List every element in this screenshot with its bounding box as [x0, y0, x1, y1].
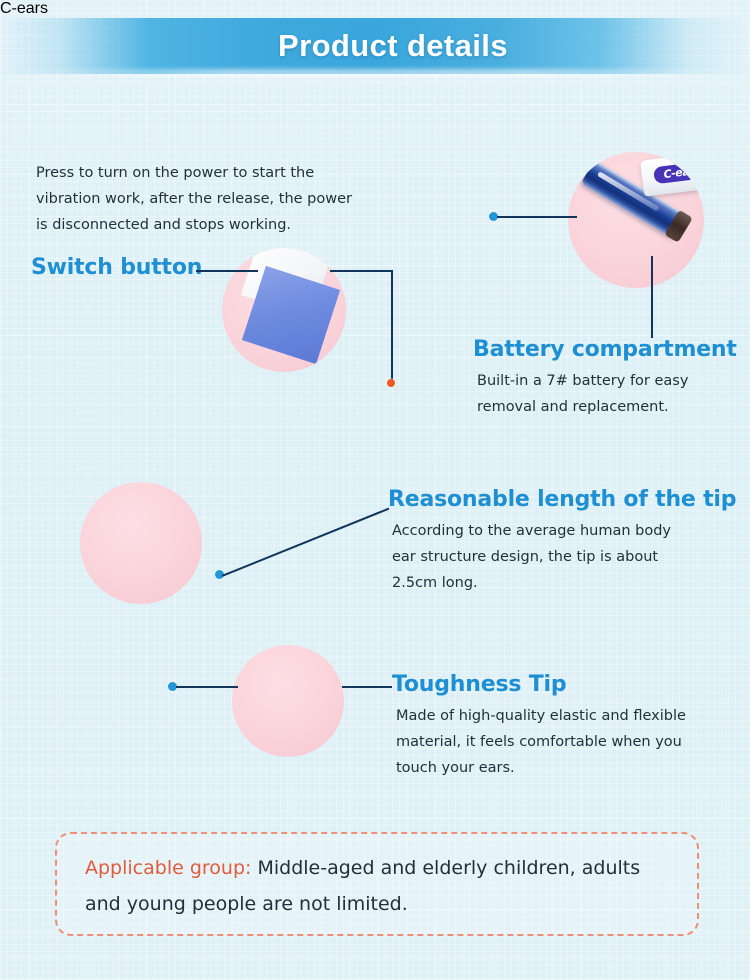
battery-inset-photo: C-ears	[568, 152, 704, 288]
battery-leader-line-v	[651, 256, 653, 338]
applicable-group-box: Applicable group: Middle-aged and elderl…	[55, 832, 699, 936]
page-title: Product details	[0, 18, 750, 74]
battery-cap: C-ears	[640, 152, 704, 197]
toughness-tip-body: Made of high-quality elastic and flexibl…	[396, 703, 726, 781]
product-details-page: Product details C-ears Press to turn on …	[0, 0, 750, 980]
battery-compartment-body: Built-in a 7# battery for easy removal a…	[477, 368, 747, 420]
battery-compartment-heading: Battery compartment	[473, 337, 737, 362]
switch-button-inset-photo	[222, 248, 346, 372]
tip-length-heading: Reasonable length of the tip	[388, 487, 736, 512]
header-banner: Product details	[0, 18, 750, 74]
applicable-group-label: Applicable group:	[85, 857, 251, 879]
battery-leader-line-h	[497, 216, 577, 218]
device-brand-badge: C-ears	[0, 0, 750, 18]
nozzle-inset-photo	[80, 482, 202, 604]
tip-length-body: According to the average human body ear …	[392, 518, 712, 596]
applicable-group-line2: and young people are not limited.	[85, 886, 680, 922]
product-photo: C-ears	[0, 0, 750, 18]
device-brand-label: C-ears	[0, 0, 48, 17]
switch-marker-dot	[387, 379, 395, 387]
battery-cap-brand-label: C-ears	[653, 161, 704, 185]
switch-leader-line-h1	[196, 270, 258, 272]
switch-leader-line-h2	[330, 270, 392, 272]
switch-leader-line-v	[391, 270, 393, 383]
inset-switch-nub	[278, 306, 304, 327]
toughness-leader-line-h1	[176, 686, 238, 688]
toughness-leader-line-h2	[342, 686, 392, 688]
applicable-group-text: Applicable group: Middle-aged and elderl…	[85, 850, 680, 922]
switch-button-intro: Press to turn on the power to start the …	[36, 160, 376, 238]
soft-tip-inset-photo	[232, 645, 344, 757]
applicable-group-line1: Middle-aged and elderly children, adults	[251, 857, 640, 879]
toughness-tip-heading: Toughness Tip	[392, 672, 566, 697]
switch-button-heading: Switch button	[31, 255, 202, 280]
tip-length-leader-line	[222, 508, 389, 577]
